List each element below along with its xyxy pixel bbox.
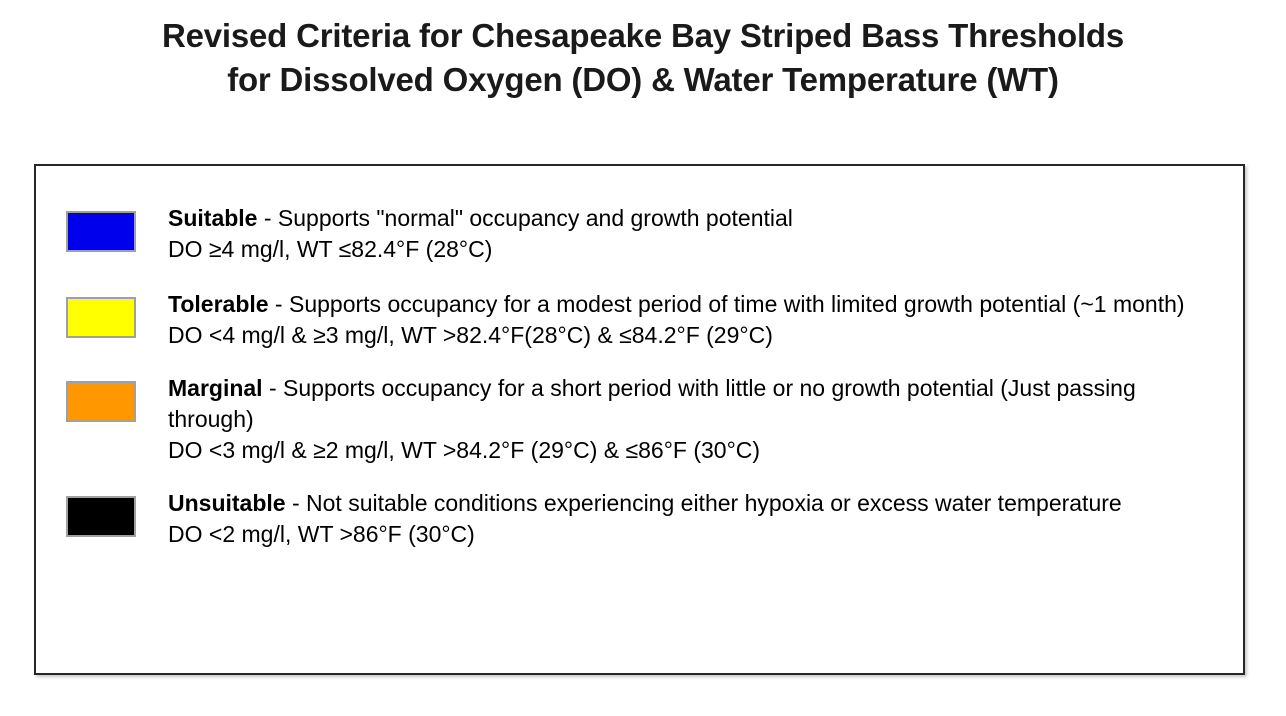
legend-item-unsuitable: Unsuitable - Not suitable conditions exp… xyxy=(36,488,1243,550)
category-separator-marginal: - xyxy=(263,375,283,401)
criteria-panel: Suitable - Supports "normal" occupancy a… xyxy=(34,164,1245,675)
color-swatch-tolerable-icon xyxy=(66,297,136,338)
category-thresholds-tolerable: DO <4 mg/l & ≥3 mg/l, WT >82.4°F(28°C) &… xyxy=(168,320,1225,351)
category-thresholds-unsuitable: DO <2 mg/l, WT >86°F (30°C) xyxy=(168,519,1225,550)
page-title-line-1: Revised Criteria for Chesapeake Bay Stri… xyxy=(0,14,1286,58)
category-name-suitable: Suitable xyxy=(168,205,257,231)
swatch-cell-suitable xyxy=(36,203,168,252)
category-thresholds-marginal: DO <3 mg/l & ≥2 mg/l, WT >84.2°F (29°C) … xyxy=(168,435,1225,466)
category-name-marginal: Marginal xyxy=(168,375,263,401)
color-swatch-unsuitable-icon xyxy=(66,496,136,537)
category-separator-tolerable: - xyxy=(269,291,289,317)
category-thresholds-suitable: DO ≥4 mg/l, WT ≤82.4°F (28°C) xyxy=(168,234,1225,265)
category-description-tolerable: Supports occupancy for a modest period o… xyxy=(289,291,1185,317)
category-separator-suitable: - xyxy=(257,205,277,231)
color-swatch-suitable-icon xyxy=(66,211,136,252)
swatch-cell-unsuitable xyxy=(36,488,168,537)
category-description-marginal: Supports occupancy for a short period wi… xyxy=(168,375,1136,432)
category-description-suitable: Supports "normal" occupancy and growth p… xyxy=(278,205,793,231)
legend-text-tolerable: Tolerable - Supports occupancy for a mod… xyxy=(168,289,1243,351)
criteria-legend-list: Suitable - Supports "normal" occupancy a… xyxy=(36,166,1243,550)
color-swatch-marginal-icon xyxy=(66,381,136,422)
category-name-unsuitable: Unsuitable xyxy=(168,490,286,516)
legend-text-suitable: Suitable - Supports "normal" occupancy a… xyxy=(168,203,1243,265)
page-title-line-2: for Dissolved Oxygen (DO) & Water Temper… xyxy=(0,58,1286,102)
legend-item-marginal: Marginal - Supports occupancy for a shor… xyxy=(36,373,1243,466)
legend-item-suitable: Suitable - Supports "normal" occupancy a… xyxy=(36,203,1243,265)
legend-item-tolerable: Tolerable - Supports occupancy for a mod… xyxy=(36,289,1243,351)
category-name-tolerable: Tolerable xyxy=(168,291,269,317)
swatch-cell-marginal xyxy=(36,373,168,422)
swatch-cell-tolerable xyxy=(36,289,168,338)
page-title: Revised Criteria for Chesapeake Bay Stri… xyxy=(0,14,1286,102)
category-separator-unsuitable: - xyxy=(286,490,306,516)
category-description-unsuitable: Not suitable conditions experiencing eit… xyxy=(306,490,1122,516)
legend-text-marginal: Marginal - Supports occupancy for a shor… xyxy=(168,373,1243,466)
legend-text-unsuitable: Unsuitable - Not suitable conditions exp… xyxy=(168,488,1243,550)
